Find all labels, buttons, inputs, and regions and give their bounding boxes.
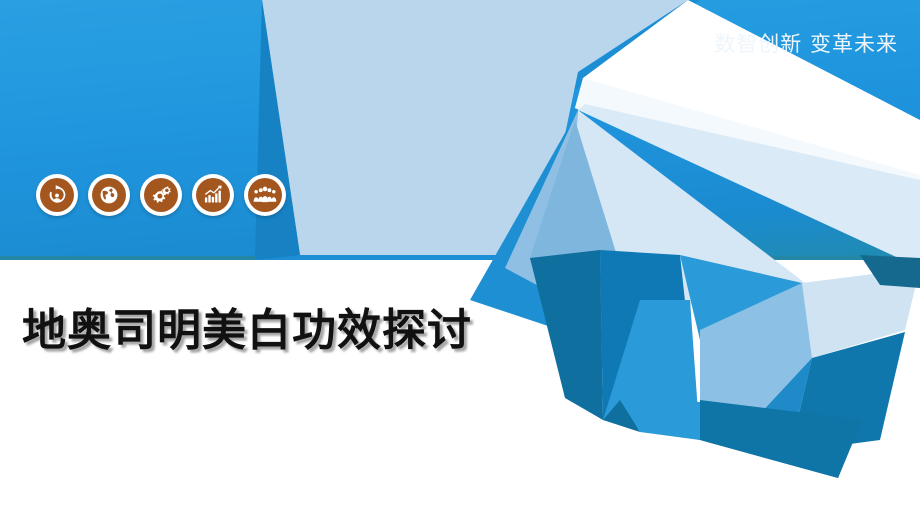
low-poly-artwork — [0, 0, 920, 518]
icon-badge-bar-chart[interactable] — [192, 174, 234, 216]
gears-icon — [144, 178, 178, 212]
presentation-slide: 数智创新 变革未来 — [0, 0, 920, 518]
icon-badge-growth-person[interactable] — [36, 174, 78, 216]
feature-icon-row — [36, 174, 286, 216]
bar-chart-growth-icon — [196, 178, 230, 212]
globe-icon — [92, 178, 126, 212]
growth-person-icon — [40, 178, 74, 212]
icon-badge-people-team[interactable] — [244, 174, 286, 216]
icon-badge-globe[interactable] — [88, 174, 130, 216]
icon-badge-gears[interactable] — [140, 174, 182, 216]
people-team-icon — [248, 178, 282, 212]
slide-tagline: 数智创新 变革未来 — [714, 28, 898, 58]
page-title: 地奥司明美白功效探讨 — [22, 294, 472, 358]
poly-deep-left — [530, 250, 603, 420]
